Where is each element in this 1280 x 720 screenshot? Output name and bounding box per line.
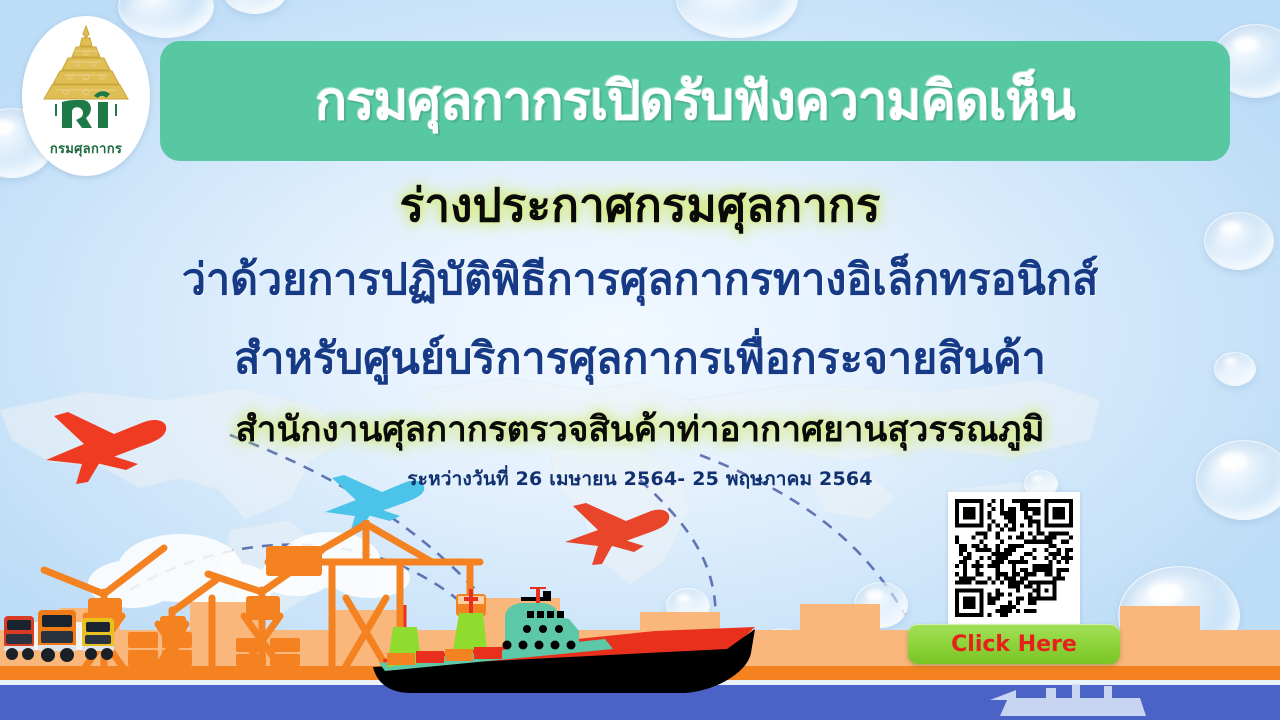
headline-suvarnabhumi-office: สำนักงานศุลกากรตรวจสินค้าท่าอากาศยานสุวร… (0, 412, 1280, 449)
thai-customs-logo: กรมศุลกากร (22, 16, 150, 176)
headline-draft-announcement: ร่างประกาศกรมศุลกากร (0, 181, 1280, 229)
headline-distribution-center: สำหรับศูนย์บริการศุลกากรเพื่อกระจายสินค้… (0, 337, 1280, 382)
headline-electronic-customs-procedure: ว่าด้วยการปฏิบัติพิธีการศุลกากรทางอิเล็ก… (0, 258, 1280, 303)
header-banner: กรมศุลกากรเปิดรับฟังความคิดเห็น (160, 41, 1230, 161)
bubble-icon (676, 0, 798, 38)
truck-orange (38, 610, 76, 662)
qr-code-canvas (955, 499, 1073, 617)
date-range-text: ระหว่างวันที่ 26 เมษายน 2564- 25 พฤษภาคม… (0, 464, 1280, 494)
truck-red (4, 616, 34, 660)
customs-emblem-icon (32, 24, 140, 136)
trucks-illustration (2, 600, 124, 662)
qr-code[interactable] (948, 492, 1080, 624)
truck-yellow (82, 618, 114, 660)
click-here-button[interactable]: Click Here (908, 624, 1120, 664)
cargo-ship-illustration (355, 587, 765, 702)
bubble-icon (222, 0, 288, 14)
logo-caption: กรมศุลกากร (50, 138, 122, 159)
header-title: กรมศุลกากรเปิดรับฟังความคิดเห็น (315, 75, 1075, 128)
